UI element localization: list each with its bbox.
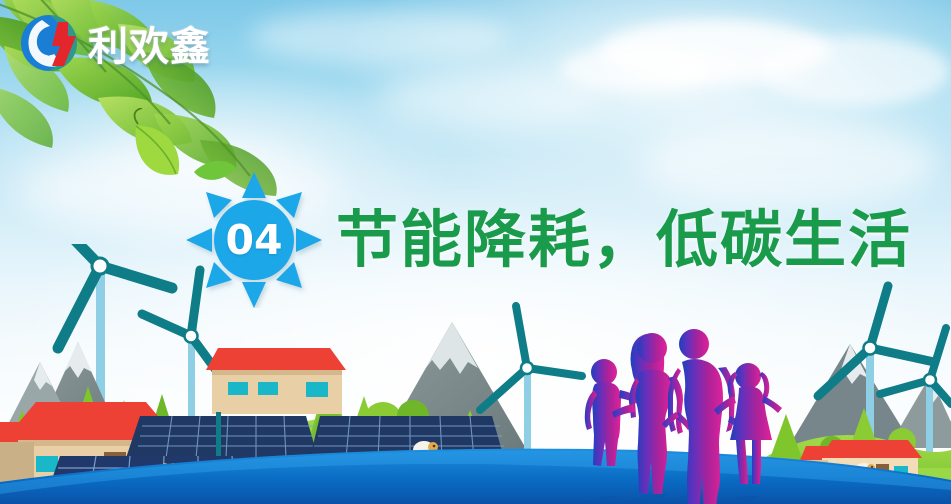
slide-canvas: 利欢鑫 xyxy=(0,0,951,504)
cloud-3 xyxy=(760,36,950,106)
badge-number: 04 xyxy=(186,172,322,308)
cloud-7 xyxy=(380,70,600,128)
brand-name: 利欢鑫 xyxy=(88,14,211,72)
brand-logo[interactable]: 利欢鑫 xyxy=(18,12,211,74)
page-title: 节能降耗，低碳生活 xyxy=(336,209,912,271)
leaf-globe-logo-icon xyxy=(18,12,82,74)
title-block: 04 节能降耗，低碳生活 xyxy=(186,172,912,308)
house-solar xyxy=(206,348,346,414)
sun-badge-icon: 04 xyxy=(186,172,322,308)
falling-leaf-icon xyxy=(122,108,192,188)
